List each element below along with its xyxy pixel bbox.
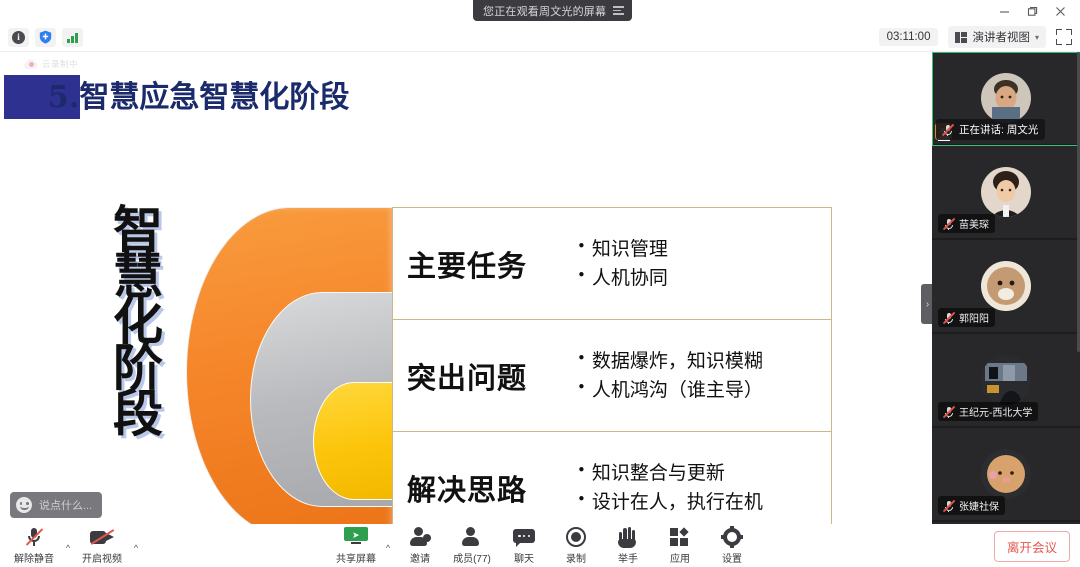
apps-label: 应用 bbox=[670, 550, 690, 565]
bullet-dot-icon: • bbox=[577, 459, 586, 482]
minimize-button[interactable] bbox=[990, 0, 1018, 23]
bullet-item: • 人机鸿沟（谁主导） bbox=[577, 376, 825, 405]
chat-label: 聊天 bbox=[514, 550, 534, 565]
meeting-control-bar: 解除静音 ^ 开启视频 ^ ➤ 共享屏幕 bbox=[0, 524, 1080, 567]
bullet-text: 人机协同 bbox=[592, 264, 668, 293]
viewing-banner-label: 您正在观看周文光的屏幕 bbox=[483, 3, 606, 19]
bullet-text: 设计在人，执行在机 bbox=[592, 488, 763, 517]
participant-tile[interactable]: 王纪元-西北大学 bbox=[932, 334, 1080, 428]
chat-icon bbox=[513, 527, 535, 548]
avatar bbox=[981, 73, 1031, 123]
window-title-bar: 您正在观看周文光的屏幕 bbox=[0, 0, 1080, 23]
participant-tile[interactable]: 郭阳阳 bbox=[932, 240, 1080, 334]
invite-icon bbox=[409, 527, 431, 548]
apps-button[interactable]: 应用 bbox=[654, 524, 706, 567]
semicircle-inner-yellow bbox=[313, 382, 395, 500]
chevron-up-icon: ^ bbox=[66, 543, 70, 553]
signal-bars-icon bbox=[67, 32, 78, 43]
speaking-indicator: 正在讲话: 周文光 bbox=[936, 119, 1045, 140]
avatar bbox=[981, 261, 1031, 311]
share-screen-button[interactable]: ➤ 共享屏幕 bbox=[330, 524, 382, 567]
speaking-label: 正在讲话: 周文光 bbox=[959, 122, 1038, 137]
audio-options-caret[interactable]: ^ bbox=[62, 524, 74, 567]
settings-button[interactable]: 设置 bbox=[706, 524, 758, 567]
slide-title: 5.智慧应急智慧化阶段 bbox=[48, 72, 349, 116]
meeting-timer: 03:11:00 bbox=[879, 28, 939, 46]
mic-muted-icon bbox=[942, 311, 955, 324]
table-row-body: • 数据爆炸，知识模糊 • 人机鸿沟（谁主导） bbox=[577, 347, 831, 404]
meeting-top-bar: i 03:11:00 演讲者视图 ▾ bbox=[0, 23, 1080, 52]
bullet-item: • 人机协同 bbox=[577, 264, 825, 293]
mic-muted-icon bbox=[942, 217, 955, 230]
share-screen-icon: ➤ bbox=[343, 527, 369, 548]
top-bar-right-controls: 03:11:00 演讲者视图 ▾ bbox=[879, 26, 1080, 48]
bullet-item: • 设计在人，执行在机 bbox=[577, 488, 825, 517]
slide-table: 主要任务 • 知识管理 • 人机协同 突出问题 • bbox=[392, 207, 832, 524]
members-icon bbox=[461, 527, 483, 548]
members-button[interactable]: 成员(77) bbox=[446, 524, 498, 567]
view-mode-selector[interactable]: 演讲者视图 ▾ bbox=[948, 26, 1046, 48]
participant-name: 王纪元-西北大学 bbox=[959, 404, 1032, 419]
bullet-text: 知识整合与更新 bbox=[592, 459, 725, 488]
bullet-dot-icon: • bbox=[577, 264, 586, 287]
avatar bbox=[981, 449, 1031, 499]
speaker-view-icon bbox=[955, 32, 967, 43]
table-row-body: • 知识管理 • 人机协同 bbox=[577, 235, 831, 292]
video-options-caret[interactable]: ^ bbox=[130, 524, 142, 567]
avatar bbox=[981, 167, 1031, 217]
bullet-dot-icon: • bbox=[577, 488, 586, 511]
mic-muted-icon bbox=[942, 405, 955, 418]
av-controls: 解除静音 ^ 开启视频 ^ bbox=[8, 524, 142, 567]
top-bar-status-icons: i bbox=[0, 28, 83, 47]
maximize-button[interactable] bbox=[1018, 0, 1046, 23]
raise-hand-label: 举手 bbox=[618, 550, 638, 565]
chevron-down-icon: ▾ bbox=[1035, 33, 1039, 42]
start-video-label: 开启视频 bbox=[82, 550, 122, 565]
invite-label: 邀请 bbox=[410, 550, 430, 565]
bullet-item: • 知识整合与更新 bbox=[577, 459, 825, 488]
participant-nametag: 张婕社保 bbox=[938, 496, 1005, 515]
table-row: 解决思路 • 知识整合与更新 • 设计在人，执行在机 bbox=[393, 432, 831, 524]
bullet-text: 数据爆炸，知识模糊 bbox=[592, 347, 763, 376]
close-button[interactable] bbox=[1046, 0, 1074, 23]
participant-tile[interactable]: 张婕社保 bbox=[932, 428, 1080, 522]
bullet-dot-icon: • bbox=[577, 347, 586, 370]
bullet-item: • 数据爆炸，知识模糊 bbox=[577, 347, 825, 376]
window-controls bbox=[990, 0, 1074, 23]
table-row-header: 主要任务 bbox=[393, 243, 577, 285]
record-button[interactable]: 录制 bbox=[550, 524, 602, 567]
raise-hand-icon bbox=[618, 527, 638, 548]
view-mode-label: 演讲者视图 bbox=[972, 29, 1030, 45]
floating-chat-input[interactable]: 说点什么... bbox=[10, 492, 102, 518]
raise-hand-button[interactable]: 举手 bbox=[602, 524, 654, 567]
participant-video-strip[interactable]: › 正在讲话: 周文光 bbox=[932, 52, 1080, 524]
encryption-button[interactable] bbox=[35, 28, 56, 47]
network-quality-button[interactable] bbox=[62, 28, 83, 47]
bullet-text: 人机鸿沟（谁主导） bbox=[592, 376, 763, 405]
main-controls: ➤ 共享屏幕 ^ 邀请 成员(77) bbox=[330, 524, 758, 567]
bullet-item: • 知识管理 bbox=[577, 235, 825, 264]
chevron-up-icon: ^ bbox=[134, 543, 138, 553]
record-label: 录制 bbox=[566, 550, 586, 565]
viewing-screen-banner[interactable]: 您正在观看周文光的屏幕 bbox=[473, 0, 632, 21]
apps-icon bbox=[670, 527, 690, 548]
start-video-button[interactable]: 开启视频 bbox=[76, 524, 128, 567]
shield-icon bbox=[39, 30, 52, 44]
camera-off-icon bbox=[90, 527, 114, 548]
table-row: 主要任务 • 知识管理 • 人机协同 bbox=[393, 208, 831, 320]
participant-nametag: 王纪元-西北大学 bbox=[938, 402, 1038, 421]
chat-input-placeholder: 说点什么... bbox=[39, 497, 92, 513]
fullscreen-button[interactable] bbox=[1056, 29, 1072, 45]
shared-screen-stage[interactable]: 云录制中 5.智慧应急智慧化阶段 智 慧 化 阶 段 主要任务 • 知识管理 bbox=[0, 52, 932, 524]
cloud-recording-badge: 云录制中 bbox=[24, 58, 78, 70]
cloud-recording-label: 云录制中 bbox=[42, 58, 78, 70]
participant-name: 苗美琛 bbox=[959, 216, 989, 231]
invite-button[interactable]: 邀请 bbox=[394, 524, 446, 567]
participant-name: 张婕社保 bbox=[959, 498, 999, 513]
meeting-info-button[interactable]: i bbox=[8, 28, 29, 47]
banner-menu-icon[interactable] bbox=[613, 6, 624, 14]
participant-nametag: 郭阳阳 bbox=[938, 308, 995, 327]
chevron-right-icon: › bbox=[926, 299, 929, 310]
avatar bbox=[981, 355, 1031, 405]
bullet-dot-icon: • bbox=[577, 376, 586, 399]
chevron-up-icon: ^ bbox=[386, 543, 390, 553]
participant-name: 郭阳阳 bbox=[959, 310, 989, 325]
participant-tile[interactable]: 正在讲话: 周文光 bbox=[932, 52, 1080, 146]
mic-muted-icon bbox=[941, 123, 954, 136]
bullet-text: 知识管理 bbox=[592, 235, 668, 264]
vertical-label-char: 段 bbox=[100, 391, 176, 437]
participant-nametag: 苗美琛 bbox=[938, 214, 995, 233]
slide-vertical-label: 智 慧 化 阶 段 bbox=[100, 207, 176, 437]
participant-tile[interactable]: 苗美琛 bbox=[932, 146, 1080, 240]
share-screen-label: 共享屏幕 bbox=[336, 550, 376, 565]
settings-icon bbox=[722, 527, 742, 548]
settings-label: 设置 bbox=[722, 550, 742, 565]
mic-off-icon bbox=[25, 527, 43, 548]
table-row-header: 解决思路 bbox=[393, 467, 577, 509]
record-icon bbox=[566, 527, 586, 548]
cloud-recording-icon bbox=[24, 59, 38, 69]
meeting-window: 您正在观看周文光的屏幕 i bbox=[0, 0, 1080, 567]
emoji-icon[interactable] bbox=[16, 497, 32, 513]
info-icon: i bbox=[12, 31, 25, 44]
unmute-button[interactable]: 解除静音 bbox=[8, 524, 60, 567]
mic-muted-icon bbox=[942, 499, 955, 512]
members-label: 成员(77) bbox=[453, 550, 491, 565]
table-row-body: • 知识整合与更新 • 设计在人，执行在机 bbox=[577, 459, 831, 516]
leave-meeting-button[interactable]: 离开会议 bbox=[994, 531, 1070, 562]
bullet-dot-icon: • bbox=[577, 235, 586, 258]
chat-button[interactable]: 聊天 bbox=[498, 524, 550, 567]
share-options-caret[interactable]: ^ bbox=[382, 524, 394, 567]
unmute-label: 解除静音 bbox=[14, 550, 54, 565]
table-row-header: 突出问题 bbox=[393, 355, 577, 397]
table-row: 突出问题 • 数据爆炸，知识模糊 • 人机鸿沟（谁主导） bbox=[393, 320, 831, 432]
